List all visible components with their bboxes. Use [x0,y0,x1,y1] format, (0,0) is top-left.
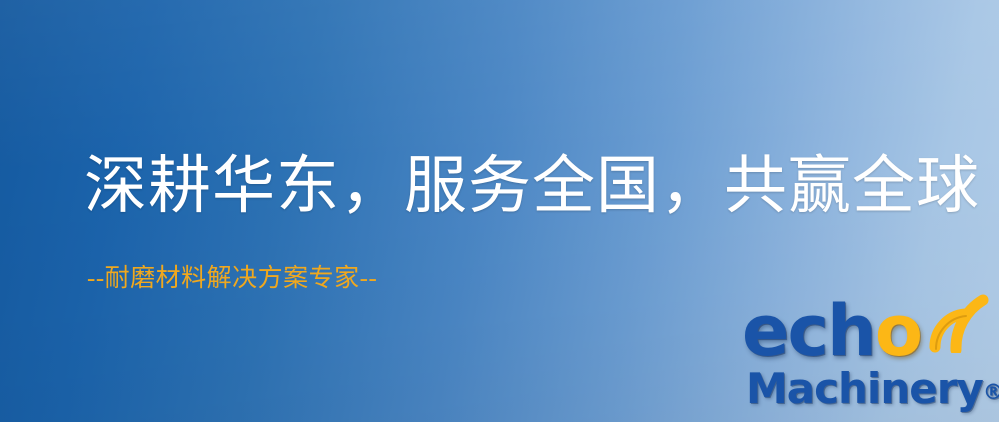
logo-wordmark-blue-text: ech [742,290,875,372]
echo-machinery-logo: echo Machinery® [742,292,994,420]
logo-wordmark-gold-letter: o [875,290,921,372]
logo-tagline-text: Machinery [746,364,983,413]
logo-tagline: Machinery® [746,364,999,417]
promo-banner: 深耕华东，服务全国，共赢全球 --耐磨材料解决方案专家-- echo Machi… [0,0,999,422]
banner-subtitle: --耐磨材料解决方案专家-- [87,264,377,294]
logo-wordmark: echo [742,292,994,370]
banner-headline: 深耕华东，服务全国，共赢全球 [84,151,980,222]
registered-trademark-icon: ® [983,380,999,404]
